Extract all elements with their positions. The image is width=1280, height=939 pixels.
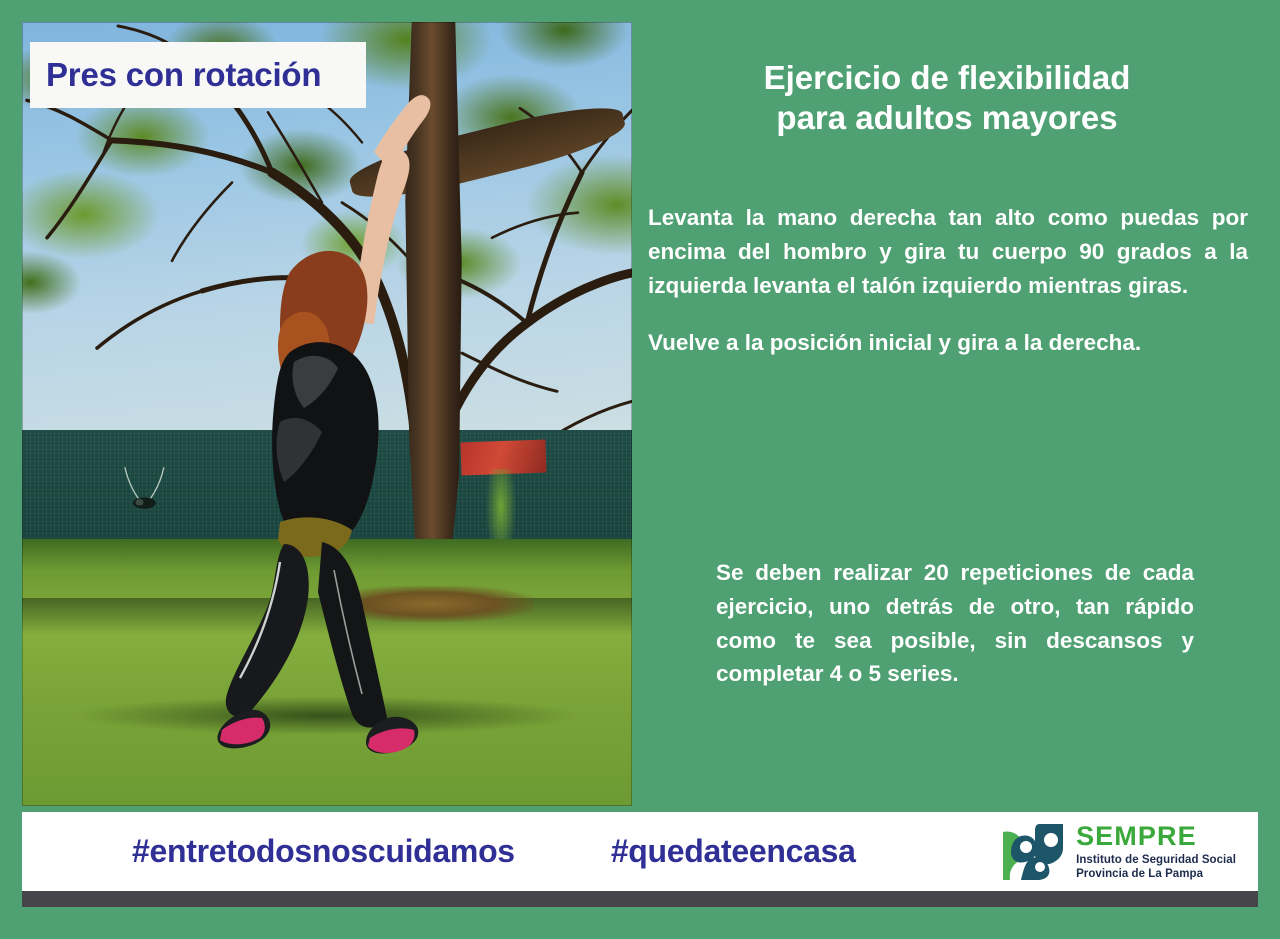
sempre-logo-text: SEMPRE Instituto de Seguridad Social Pro… <box>1076 823 1236 880</box>
exercise-title: Pres con rotación <box>46 56 321 94</box>
footer-accent-bar <box>22 891 1258 907</box>
hashtag-entretodosnoscuidamos[interactable]: #entretodosnoscuidamos <box>132 833 515 870</box>
hashtag-group: #entretodosnoscuidamos #quedateencasa <box>132 833 856 870</box>
sempre-subtitle-line-1: Instituto de Seguridad Social <box>1076 855 1236 867</box>
instruction-paragraph-2: Vuelve a la posición inicial y gira a la… <box>648 326 1258 360</box>
sempre-logo: SEMPRE Instituto de Seguridad Social Pro… <box>1001 822 1236 882</box>
sempre-logo-mark-icon <box>1001 822 1067 882</box>
content-column: Ejercicio de flexibilidad para adultos m… <box>648 58 1258 382</box>
footer-bar: #entretodosnoscuidamos #quedateencasa SE… <box>22 812 1258 891</box>
instructions: Levanta la mano derecha tan alto como pu… <box>648 201 1258 360</box>
headline-line-2: para adultos mayores <box>654 98 1240 138</box>
headline: Ejercicio de flexibilidad para adultos m… <box>648 58 1258 139</box>
exercise-photo <box>22 22 632 806</box>
instruction-paragraph-1: Levanta la mano derecha tan alto como pu… <box>648 201 1258 304</box>
sempre-subtitle-line-2: Provincia de La Pampa <box>1076 869 1236 881</box>
sempre-title: SEMPRE <box>1076 823 1236 850</box>
repetitions-note: Se deben realizar 20 repeticiones de cad… <box>716 556 1194 691</box>
exercise-title-band: Pres con rotación <box>30 42 366 108</box>
hashtag-quedateencasa[interactable]: #quedateencasa <box>611 833 856 870</box>
headline-line-1: Ejercicio de flexibilidad <box>764 59 1131 96</box>
poster-root: Pres con rotación Ejercicio de flexibili… <box>0 0 1280 939</box>
photo-person <box>22 22 632 806</box>
